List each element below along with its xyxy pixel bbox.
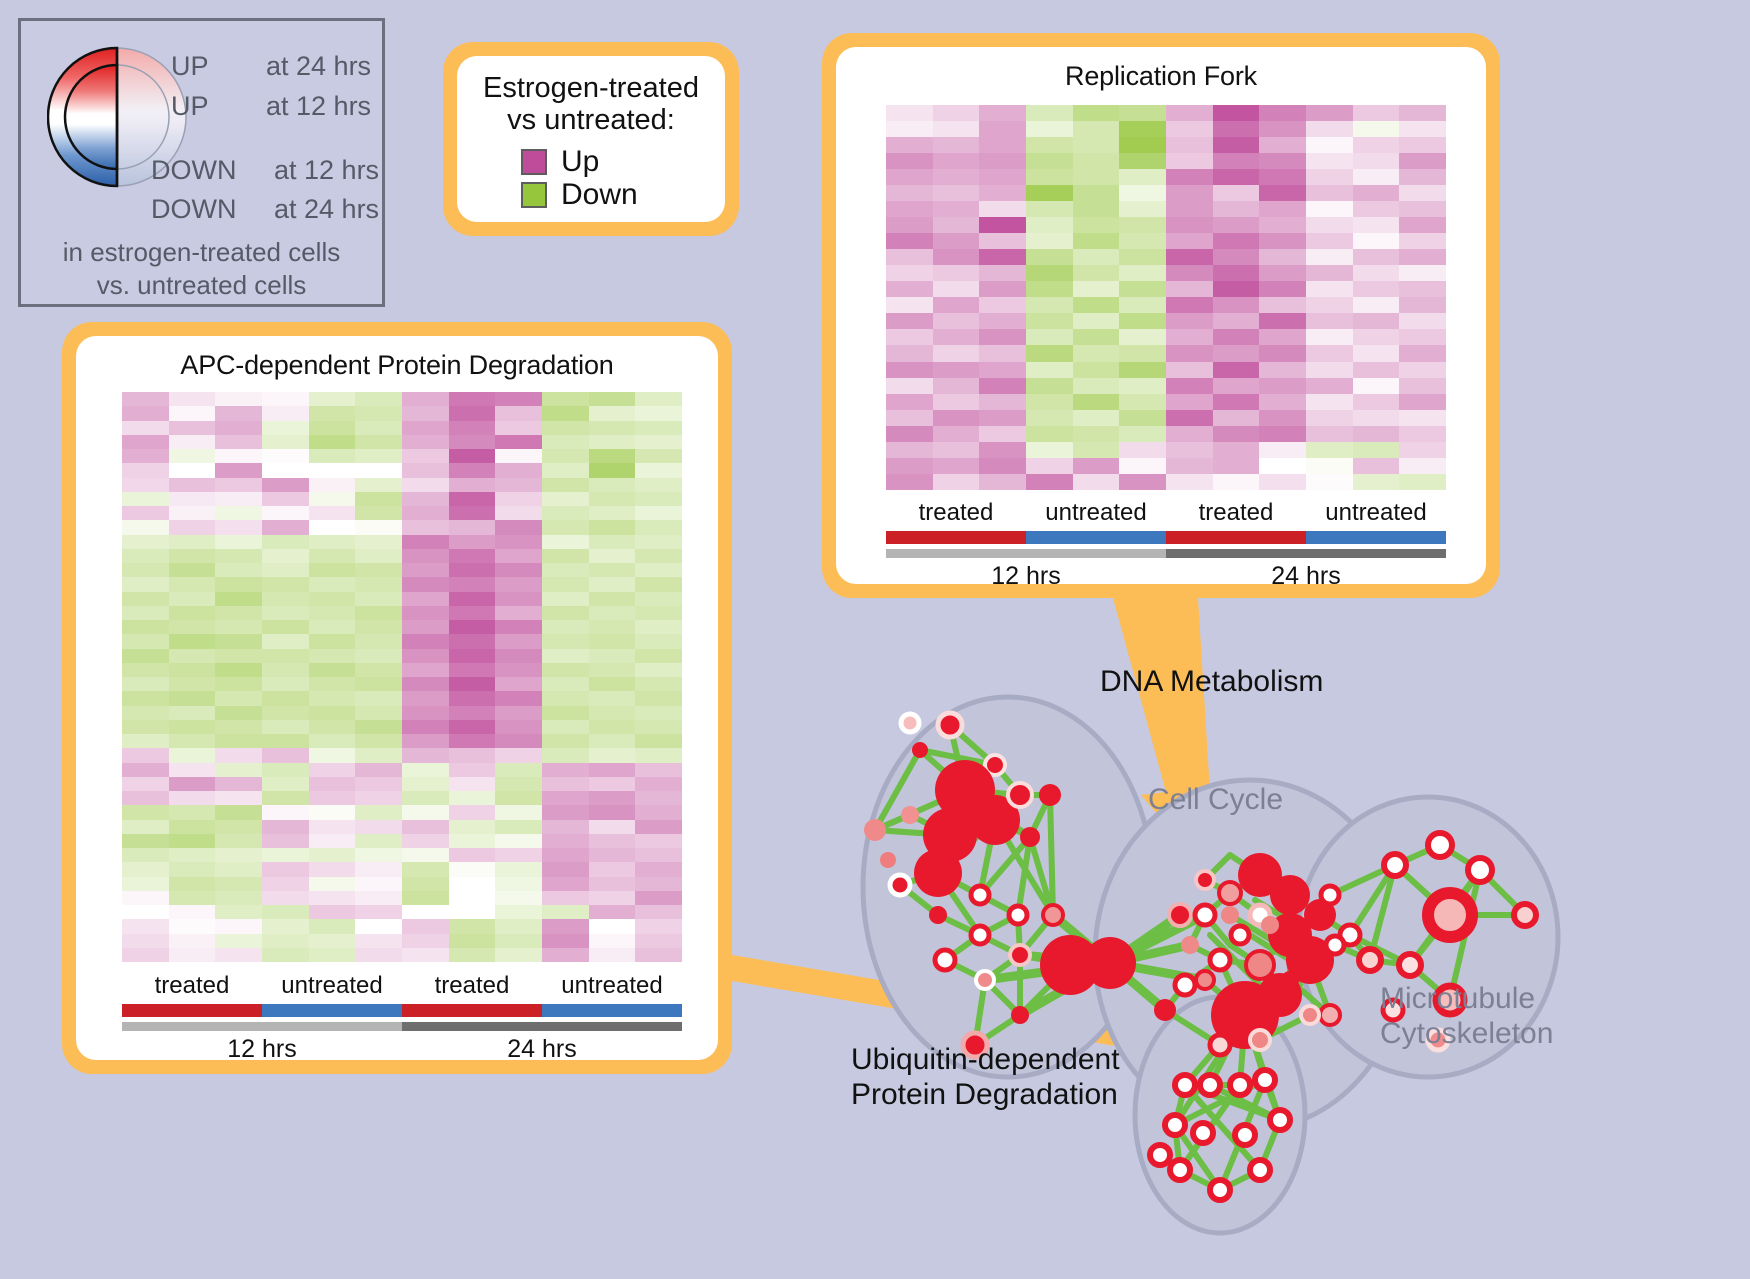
heatmap-cell (449, 834, 496, 848)
heatmap-cell (635, 734, 682, 748)
heatmap-cell (1259, 410, 1306, 426)
heatmap-cell (1166, 474, 1213, 490)
heatmap-row (122, 777, 682, 791)
heatmap-cell (1259, 474, 1306, 490)
heatmap-cell (1119, 362, 1166, 378)
heatmap-cell (262, 634, 309, 648)
heatmap-row (886, 249, 1446, 265)
heatmap-cell (495, 463, 542, 477)
heatmap-cell (886, 121, 933, 137)
heatmap-row (886, 217, 1446, 233)
heatmap-cell (169, 577, 216, 591)
heatmap-cell (309, 520, 356, 534)
heatmap-cell (1306, 185, 1353, 201)
heatmap-cell (355, 862, 402, 876)
key-footnote: in estrogen-treated cells vs. untreated … (21, 236, 382, 301)
heatmap-cell (542, 877, 589, 891)
heatmap-cell (635, 905, 682, 919)
heatmap-cell (449, 691, 496, 705)
heatmap-cell (262, 777, 309, 791)
replication-fork-title: Replication Fork (836, 47, 1486, 92)
heatmap-cell (1026, 458, 1073, 474)
heatmap-cell (1306, 442, 1353, 458)
heatmap-cell (215, 748, 262, 762)
heatmap-row (122, 577, 682, 591)
heatmap-cell (309, 606, 356, 620)
heatmap-cell (495, 805, 542, 819)
network-node (1326, 936, 1344, 954)
heatmap-cell (1306, 410, 1353, 426)
apc-degradation-inner: APC-dependent Protein Degradation treate… (76, 336, 718, 1060)
heatmap-cell (635, 677, 682, 691)
heatmap-row (122, 663, 682, 677)
heatmap-cell (542, 905, 589, 919)
heatmap-cell (309, 905, 356, 919)
heatmap-cell (542, 449, 589, 463)
heatmap-cell (1119, 137, 1166, 153)
heatmap-cell (1353, 105, 1400, 121)
heatmap-cell (542, 634, 589, 648)
heatmap-row (122, 706, 682, 720)
heatmap-cell (886, 217, 933, 233)
heatmap-cell (589, 634, 636, 648)
heatmap-cell (122, 948, 169, 962)
heatmap-cell (589, 563, 636, 577)
heatmap-cell (262, 649, 309, 663)
heatmap-cell (635, 421, 682, 435)
heatmap-cell (169, 791, 216, 805)
heatmap-cell (122, 734, 169, 748)
heatmap-cell (402, 820, 449, 834)
heatmap-cell (589, 435, 636, 449)
heatmap-cell (449, 905, 496, 919)
heatmap-cell (589, 449, 636, 463)
heatmap-cell (262, 891, 309, 905)
heatmap-cell (355, 620, 402, 634)
heatmap-cell (589, 677, 636, 691)
replication-fork-inner: Replication Fork treated untreated treat… (836, 47, 1486, 584)
heatmap-cell (495, 834, 542, 848)
heatmap-cell (309, 549, 356, 563)
heatmap-cell (1353, 410, 1400, 426)
heatmap-cell (262, 606, 309, 620)
heatmap-cell (1119, 410, 1166, 426)
network-node (1154, 999, 1176, 1021)
heatmap-cell (122, 592, 169, 606)
heatmap-cell (449, 620, 496, 634)
heatmap-cell (1213, 297, 1260, 313)
heatmap-cell (262, 919, 309, 933)
heatmap-cell (635, 848, 682, 862)
heatmap-cell (1119, 185, 1166, 201)
network-node (1270, 875, 1310, 915)
heatmap-cell (542, 763, 589, 777)
heatmap-cell (1399, 458, 1446, 474)
heatmap-row (122, 406, 682, 420)
heatmap-cell (309, 791, 356, 805)
heatmap-cell (402, 478, 449, 492)
heatmap-row (122, 763, 682, 777)
heatmap-cell (495, 720, 542, 734)
heatmap-cell (215, 606, 262, 620)
heatmap-cell (402, 634, 449, 648)
heatmap-cell (1166, 426, 1213, 442)
heatmap-cell (1259, 362, 1306, 378)
network-node (1359, 949, 1381, 971)
heatmap-cell (1259, 458, 1306, 474)
heatmap-cell (402, 805, 449, 819)
heatmap-row (122, 891, 682, 905)
heatmap-cell (262, 620, 309, 634)
heatmap-cell (402, 463, 449, 477)
heatmap-cell (355, 421, 402, 435)
heatmap-cell (589, 549, 636, 563)
heatmap-cell (1399, 410, 1446, 426)
heatmap-row (886, 345, 1446, 361)
heatmap-cell (309, 478, 356, 492)
heatmap-cell (215, 905, 262, 919)
heatmap-cell (169, 492, 216, 506)
heatmap-cell (1166, 169, 1213, 185)
heatmap-cell (449, 763, 496, 777)
heatmap-cell (355, 478, 402, 492)
heatmap-cell (169, 934, 216, 948)
network-node (1195, 905, 1215, 925)
key-time-3: at 24 hrs (274, 194, 379, 225)
heatmap-cell (542, 805, 589, 819)
rep-bar-untreated-24 (1306, 531, 1446, 544)
heatmap-cell (495, 877, 542, 891)
key-direction-3: DOWN (151, 194, 236, 225)
heatmap-cell (495, 763, 542, 777)
heatmap-cell (1119, 378, 1166, 394)
network-node (1281, 971, 1299, 989)
heatmap-cell (1399, 169, 1446, 185)
heatmap-cell (122, 862, 169, 876)
heatmap-cell (1166, 313, 1213, 329)
heatmap-cell (933, 201, 980, 217)
heatmap-cell (1213, 426, 1260, 442)
heatmap-cell (495, 677, 542, 691)
heatmap-cell (449, 777, 496, 791)
heatmap-cell (1353, 265, 1400, 281)
heatmap-cell (309, 805, 356, 819)
heatmap-cell (122, 492, 169, 506)
heatmap-cell (979, 362, 1026, 378)
heatmap-cell (1353, 137, 1400, 153)
heatmap-cell (355, 606, 402, 620)
heatmap-cell (495, 435, 542, 449)
heatmap-cell (1073, 105, 1120, 121)
apc-degradation-panel: APC-dependent Protein Degradation treate… (62, 322, 732, 1074)
heatmap-cell (1213, 121, 1260, 137)
heatmap-cell (589, 948, 636, 962)
heatmap-cell (122, 905, 169, 919)
heatmap-cell (449, 492, 496, 506)
heatmap-cell (1026, 153, 1073, 169)
heatmap-row (886, 169, 1446, 185)
heatmap-cell (169, 820, 216, 834)
network-node (935, 950, 955, 970)
heatmap-cell (355, 392, 402, 406)
heatmap-cell (215, 834, 262, 848)
heatmap-cell (979, 185, 1026, 201)
heatmap-row (122, 820, 682, 834)
heatmap-cell (449, 634, 496, 648)
heatmap-cell (1119, 329, 1166, 345)
heatmap-cell (449, 435, 496, 449)
apc-group-labels: treated untreated treated untreated (122, 972, 682, 1000)
heatmap-cell (169, 535, 216, 549)
heatmap-cell (402, 934, 449, 948)
heatmap-cell (1073, 474, 1120, 490)
heatmap-cell (979, 458, 1026, 474)
heatmap-cell (122, 663, 169, 677)
heatmap-cell (1026, 442, 1073, 458)
heatmap-cell (979, 474, 1026, 490)
heatmap-cell (355, 905, 402, 919)
heatmap-cell (1399, 297, 1446, 313)
heatmap-cell (122, 777, 169, 791)
heatmap-cell (262, 791, 309, 805)
heatmap-cell (1073, 442, 1120, 458)
heatmap-cell (215, 734, 262, 748)
heatmap-cell (1353, 281, 1400, 297)
heatmap-cell (449, 791, 496, 805)
heatmap-cell (449, 478, 496, 492)
heatmap-cell (979, 297, 1026, 313)
heatmap-cell (309, 734, 356, 748)
heatmap-cell (309, 506, 356, 520)
heatmap-cell (402, 421, 449, 435)
heatmap-cell (542, 919, 589, 933)
heatmap-cell (495, 663, 542, 677)
heatmap-cell (309, 449, 356, 463)
heatmap-cell (309, 848, 356, 862)
network-node (914, 849, 962, 897)
heatmap-cell (215, 720, 262, 734)
heatmap-row (122, 592, 682, 606)
heatmap-cell (215, 934, 262, 948)
heatmap-cell (542, 421, 589, 435)
heatmap-cell (449, 606, 496, 620)
heatmap-cell (402, 706, 449, 720)
heatmap-cell (1119, 153, 1166, 169)
rep-bar-12hrs (886, 549, 1166, 558)
heatmap-cell (1353, 169, 1400, 185)
heatmap-row (886, 329, 1446, 345)
network-node (1008, 783, 1032, 807)
heatmap-cell (1073, 249, 1120, 265)
estrogen-legend-items: Up Down (467, 147, 715, 210)
heatmap-cell (355, 520, 402, 534)
pathway-network-diagram (790, 615, 1750, 1279)
heatmap-cell (542, 748, 589, 762)
heatmap-cell (122, 919, 169, 933)
heatmap-cell (1073, 217, 1120, 233)
heatmap-cell (542, 777, 589, 791)
heatmap-cell (1026, 378, 1073, 394)
heatmap-cell (635, 563, 682, 577)
heatmap-cell (1166, 105, 1213, 121)
heatmap-cell (495, 478, 542, 492)
heatmap-cell (635, 449, 682, 463)
heatmap-cell (1399, 345, 1446, 361)
heatmap-cell (1166, 121, 1213, 137)
heatmap-cell (495, 734, 542, 748)
heatmap-cell (449, 577, 496, 591)
heatmap-cell (589, 492, 636, 506)
heatmap-cell (402, 520, 449, 534)
heatmap-cell (262, 834, 309, 848)
heatmap-cell (979, 153, 1026, 169)
heatmap-cell (1073, 281, 1120, 297)
heatmap-cell (495, 549, 542, 563)
heatmap-cell (309, 577, 356, 591)
heatmap-cell (215, 506, 262, 520)
heatmap-cell (169, 891, 216, 905)
heatmap-cell (589, 606, 636, 620)
heatmap-cell (495, 848, 542, 862)
heatmap-cell (635, 805, 682, 819)
heatmap-cell (355, 449, 402, 463)
heatmap-cell (355, 763, 402, 777)
heatmap-cell (1399, 185, 1446, 201)
heatmap-cell (635, 506, 682, 520)
rep-group-labels: treated untreated treated untreated (886, 499, 1446, 527)
heatmap-cell (495, 777, 542, 791)
heatmap-cell (589, 791, 636, 805)
heatmap-cell (122, 834, 169, 848)
network-node (1196, 871, 1214, 889)
heatmap-cell (122, 535, 169, 549)
heatmap-cell (542, 691, 589, 705)
heatmap-cell (542, 478, 589, 492)
heatmap-cell (635, 535, 682, 549)
heatmap-cell (589, 577, 636, 591)
heatmap-cell (122, 577, 169, 591)
heatmap-cell (589, 535, 636, 549)
network-node (1175, 975, 1195, 995)
network-node (864, 819, 886, 841)
heatmap-cell (1073, 410, 1120, 426)
heatmap-cell (589, 877, 636, 891)
network-node (1170, 1160, 1190, 1180)
heatmap-cell (262, 392, 309, 406)
heatmap-cell (589, 406, 636, 420)
heatmap-cell (1073, 345, 1120, 361)
heatmap-cell (979, 313, 1026, 329)
heatmap-cell (589, 620, 636, 634)
heatmap-cell (122, 791, 169, 805)
heatmap-cell (402, 834, 449, 848)
heatmap-cell (1026, 362, 1073, 378)
heatmap-cell (1213, 313, 1260, 329)
heatmap-cell (449, 720, 496, 734)
heatmap-cell (262, 677, 309, 691)
heatmap-cell (215, 763, 262, 777)
heatmap-cell (449, 934, 496, 948)
heatmap-cell (449, 463, 496, 477)
heatmap-cell (169, 706, 216, 720)
heatmap-cell (402, 506, 449, 520)
heatmap-cell (169, 463, 216, 477)
heatmap-cell (542, 891, 589, 905)
heatmap-cell (589, 891, 636, 905)
heatmap-cell (355, 535, 402, 549)
heatmap-cell (215, 577, 262, 591)
rep-group-label-2: treated (1166, 499, 1306, 527)
apc-group-label-3: untreated (542, 972, 682, 1000)
heatmap-cell (1119, 169, 1166, 185)
heatmap-cell (122, 392, 169, 406)
heatmap-cell (122, 706, 169, 720)
heatmap-cell (355, 791, 402, 805)
heatmap-cell (1306, 217, 1353, 233)
heatmap-cell (402, 663, 449, 677)
heatmap-cell (1213, 474, 1260, 490)
heatmap-cell (402, 577, 449, 591)
heatmap-cell (1119, 265, 1166, 281)
heatmap-cell (449, 820, 496, 834)
heatmap-cell (495, 748, 542, 762)
heatmap-cell (933, 458, 980, 474)
heatmap-cell (635, 392, 682, 406)
heatmap-cell (1306, 474, 1353, 490)
heatmap-cell (542, 820, 589, 834)
heatmap-cell (1259, 426, 1306, 442)
estrogen-legend-inner: Estrogen-treated vs untreated: Up Down (457, 56, 725, 222)
heatmap-cell (122, 563, 169, 577)
heatmap-cell (1213, 185, 1260, 201)
apc-bar-24hrs (402, 1022, 682, 1031)
heatmap-cell (215, 805, 262, 819)
heatmap-cell (1399, 442, 1446, 458)
network-node (901, 806, 919, 824)
network-node (1011, 1006, 1029, 1024)
heatmap-cell (495, 592, 542, 606)
apc-group-label-1: untreated (262, 972, 402, 1000)
heatmap-cell (542, 720, 589, 734)
heatmap-cell (589, 463, 636, 477)
heatmap-cell (215, 435, 262, 449)
heatmap-cell (635, 919, 682, 933)
heatmap-cell (355, 820, 402, 834)
heatmap-cell (495, 634, 542, 648)
key-footnote-line1: in estrogen-treated cells (21, 236, 382, 269)
heatmap-cell (495, 392, 542, 406)
heatmap-cell (262, 435, 309, 449)
heatmap-cell (886, 442, 933, 458)
heatmap-cell (1073, 137, 1120, 153)
heatmap-cell (262, 862, 309, 876)
heatmap-row (122, 862, 682, 876)
heatmap-cell (635, 520, 682, 534)
heatmap-cell (1259, 265, 1306, 281)
heatmap-cell (262, 663, 309, 677)
heatmap-cell (635, 435, 682, 449)
heatmap-row (886, 458, 1446, 474)
heatmap-cell (1213, 442, 1260, 458)
heatmap-cell (495, 492, 542, 506)
apc-group-label-0: treated (122, 972, 262, 1000)
heatmap-cell (1259, 169, 1306, 185)
heatmap-cell (169, 634, 216, 648)
heatmap-cell (262, 449, 309, 463)
heatmap-cell (309, 620, 356, 634)
heatmap-row (122, 905, 682, 919)
heatmap-cell (1259, 233, 1306, 249)
